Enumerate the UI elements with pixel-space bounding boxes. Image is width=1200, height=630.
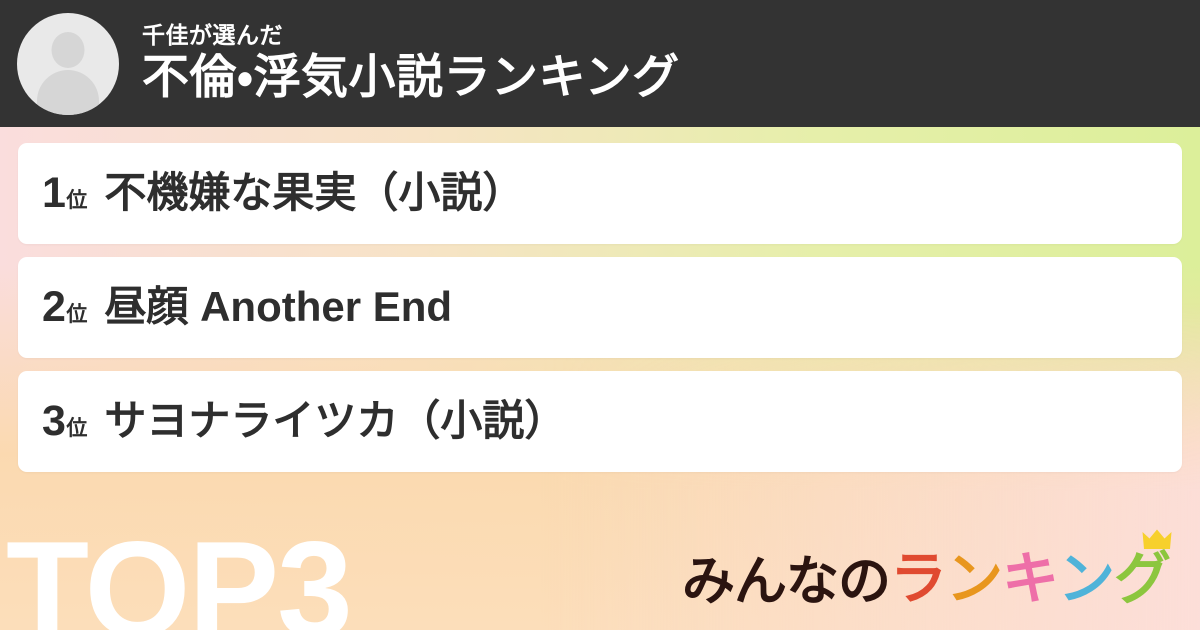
brand-logo-prefix: みんなの	[682, 555, 890, 608]
brand-kana-char-2: ン	[946, 551, 1002, 608]
page-title: 不倫・浮気小説ランキング	[142, 51, 680, 104]
user-avatar-icon	[17, 13, 119, 115]
header-text-group: 千佳が選んだ 不倫・浮気小説ランキング	[142, 23, 680, 104]
brand-kana-char-1: ラ	[890, 551, 946, 608]
rank-number: 1	[42, 172, 65, 215]
rank-number: 2	[42, 286, 65, 329]
avatar-body-shape	[37, 70, 99, 115]
top3-watermark: TOP3	[6, 521, 351, 630]
avatar-head-shape	[52, 32, 85, 68]
brand-kana-char-4: ン	[1058, 551, 1114, 608]
brand-logo[interactable]: みんなの ラ ン キ ン グ	[682, 551, 1170, 608]
rank-badge: 3 位	[42, 400, 87, 443]
ranking-list: 1 位 不機嫌な果実（小説） 2 位 昼顔 Another End 3 位 サヨ…	[18, 143, 1182, 485]
crown-icon	[1142, 529, 1172, 551]
list-item-title: 不機嫌な果実（小説）	[104, 170, 524, 216]
brand-kana-char-3: キ	[1002, 551, 1058, 608]
list-item[interactable]: 1 位 不機嫌な果実（小説）	[18, 143, 1182, 244]
brand-logo-kana: ラ ン キ ン グ	[890, 551, 1170, 608]
rank-unit-label: 位	[66, 304, 87, 325]
brand-kana-char-5: グ	[1114, 551, 1170, 608]
rank-unit-label: 位	[66, 190, 87, 211]
list-item-title: サヨナライツカ（小説）	[104, 398, 566, 444]
rank-badge: 2 位	[42, 286, 87, 329]
poster-header: 千佳が選んだ 不倫・浮気小説ランキング	[0, 0, 1200, 127]
rank-unit-label: 位	[66, 418, 87, 439]
list-item[interactable]: 3 位 サヨナライツカ（小説）	[18, 371, 1182, 472]
rank-number: 3	[42, 400, 65, 443]
rank-badge: 1 位	[42, 172, 87, 215]
ranking-poster: 千佳が選んだ 不倫・浮気小説ランキング 1 位 不機嫌な果実（小説） 2 位 昼…	[0, 0, 1200, 630]
list-item-title: 昼顔 Another End	[104, 284, 452, 330]
header-subtitle: 千佳が選んだ	[142, 23, 680, 47]
list-item[interactable]: 2 位 昼顔 Another End	[18, 257, 1182, 358]
